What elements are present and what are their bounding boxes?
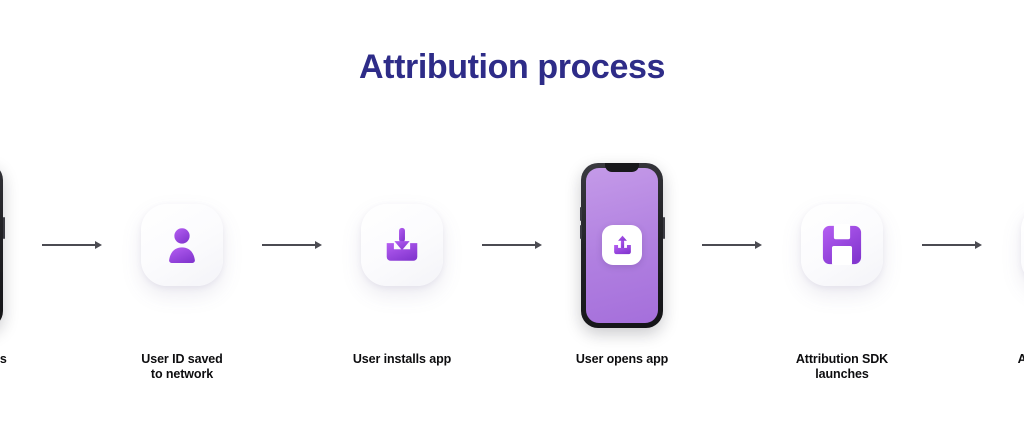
connector-4 xyxy=(702,239,762,251)
label-line-2: launches xyxy=(762,367,922,382)
connector-line xyxy=(42,244,96,246)
connector-1 xyxy=(42,239,102,251)
phone-volume-up-button xyxy=(580,207,582,221)
attribution-flow xyxy=(0,155,1024,335)
label-line-2: to network xyxy=(102,367,262,382)
label-user-id-saved: User ID saved to network xyxy=(102,352,262,382)
label-attribution-tool-collects-data: Attribution tool collects data xyxy=(982,352,1024,382)
step-user-installs-app[interactable] xyxy=(322,155,482,335)
phone-screen xyxy=(586,168,658,323)
page-title: Attribution process xyxy=(0,48,1024,87)
user-person-icon xyxy=(161,224,203,266)
label-line-1: Attribution SDK xyxy=(762,352,922,367)
connector-line xyxy=(922,244,976,246)
step-user-id-saved[interactable] xyxy=(102,155,262,335)
label-line-1: User installs app xyxy=(322,352,482,367)
icon-card xyxy=(141,204,223,286)
connector-line xyxy=(702,244,756,246)
label-line-1: Attribution tool xyxy=(982,352,1024,367)
download-install-icon xyxy=(381,224,423,266)
step-attribution-tool-collects-data[interactable] xyxy=(982,155,1024,335)
label-user-opens-app: User opens app xyxy=(542,352,702,367)
step-labels: User clicks ads User ID saved to network… xyxy=(0,352,1024,382)
connector-arrowhead xyxy=(315,241,322,249)
phone-power-button xyxy=(663,217,665,239)
connector-arrowhead xyxy=(755,241,762,249)
phone-device xyxy=(581,163,663,328)
icon-card xyxy=(361,204,443,286)
label-line-1: User opens app xyxy=(542,352,702,367)
phone-notch xyxy=(605,163,639,172)
app-tile xyxy=(602,225,642,265)
label-user-installs-app: User installs app xyxy=(322,352,482,367)
label-attribution-sdk-launches: Attribution SDK launches xyxy=(762,352,922,382)
step-attribution-sdk-launches[interactable] xyxy=(762,155,922,335)
connector-line xyxy=(262,244,316,246)
icon-card xyxy=(801,204,883,286)
label-line-2: collects data xyxy=(982,367,1024,382)
label-user-clicks-ads: User clicks ads xyxy=(0,352,42,367)
label-line-1: User ID saved xyxy=(102,352,262,367)
phone-power-button xyxy=(3,217,5,239)
phone-volume-down-button xyxy=(580,225,582,239)
phone-device xyxy=(0,163,3,328)
connector-arrowhead xyxy=(975,241,982,249)
connector-2 xyxy=(262,239,322,251)
step-user-opens-app[interactable] xyxy=(542,155,702,335)
label-line-1: User clicks ads xyxy=(0,352,42,367)
connector-3 xyxy=(482,239,542,251)
step-user-clicks-ads[interactable] xyxy=(0,155,42,335)
connector-arrowhead xyxy=(535,241,542,249)
upload-open-icon xyxy=(611,234,634,257)
connector-arrowhead xyxy=(95,241,102,249)
connector-5 xyxy=(922,239,982,251)
connector-line xyxy=(482,244,536,246)
floppy-save-icon xyxy=(821,224,863,266)
